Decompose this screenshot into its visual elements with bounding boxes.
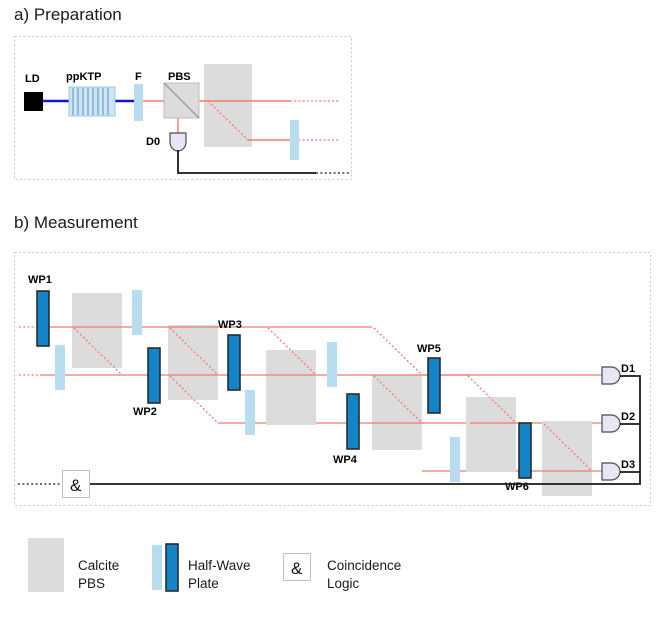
- label-wp2: WP2: [133, 406, 157, 418]
- panel-b-title: b) Measurement: [14, 213, 138, 232]
- figure-root: a) Preparation LD ppKTP F PBS D0: [0, 0, 665, 626]
- calcite-pbs-a: [204, 64, 252, 147]
- label-ld: LD: [25, 73, 40, 85]
- legend-coincidence-line1: Coincidence: [327, 558, 401, 573]
- calcite-pbs-b4: [372, 375, 422, 450]
- coincidence-logic-glyph: &: [70, 476, 82, 495]
- label-wp6: WP6: [505, 481, 529, 493]
- calcite-pbs-b5: [466, 397, 516, 472]
- detector-d1: [602, 367, 620, 384]
- detector-d0: [170, 133, 186, 151]
- half-wave-plate-b5: [450, 437, 460, 482]
- label-pbs: PBS: [168, 71, 191, 83]
- half-wave-plate-b3: [245, 390, 255, 435]
- waveplate-wp4[interactable]: [347, 394, 359, 449]
- label-d1: D1: [621, 363, 635, 375]
- detector-d3: [602, 463, 620, 480]
- legend-coincidence-glyph: &: [291, 559, 303, 578]
- label-wp4: WP4: [333, 454, 358, 466]
- label-wp5: WP5: [417, 343, 441, 355]
- legend-hwp-dark-swatch: [166, 544, 178, 591]
- half-wave-plate-a: [290, 120, 299, 160]
- legend-calcite-line1: Calcite: [78, 558, 119, 573]
- label-filter: F: [135, 71, 142, 83]
- legend-hwp-line2: Plate: [188, 576, 219, 591]
- calcite-pbs-b2: [168, 325, 218, 400]
- waveplate-wp6[interactable]: [519, 423, 531, 478]
- half-wave-plate-b4: [327, 342, 337, 387]
- half-wave-plate-b2: [132, 290, 142, 335]
- legend-coincidence-line2: Logic: [327, 576, 360, 591]
- legend-calcite-swatch: [28, 538, 64, 592]
- waveplate-wp5[interactable]: [428, 358, 440, 413]
- label-wp1: WP1: [28, 274, 52, 286]
- label-ppktp: ppKTP: [66, 71, 101, 83]
- label-d3: D3: [621, 459, 635, 471]
- label-d2: D2: [621, 411, 635, 423]
- waveplate-wp1[interactable]: [37, 291, 49, 346]
- legend-hwp-line1: Half-Wave: [188, 558, 251, 573]
- laser-diode: [24, 92, 43, 111]
- half-wave-plate-b1: [55, 345, 65, 390]
- waveplate-wp3[interactable]: [228, 335, 240, 390]
- panel-a-title: a) Preparation: [14, 5, 122, 24]
- optical-setup-figure: a) Preparation LD ppKTP F PBS D0: [0, 0, 665, 626]
- spectral-filter: [134, 84, 143, 121]
- calcite-pbs-b3: [266, 350, 316, 425]
- waveplate-wp2[interactable]: [148, 348, 160, 403]
- legend-hwp-light-swatch: [152, 545, 162, 590]
- detector-d2: [602, 415, 620, 432]
- legend-calcite-line2: PBS: [78, 576, 105, 591]
- label-wp3: WP3: [218, 319, 242, 331]
- calcite-pbs-b1: [72, 293, 122, 368]
- beam-b4-diagonal-2: [374, 328, 422, 375]
- label-d0: D0: [146, 136, 160, 148]
